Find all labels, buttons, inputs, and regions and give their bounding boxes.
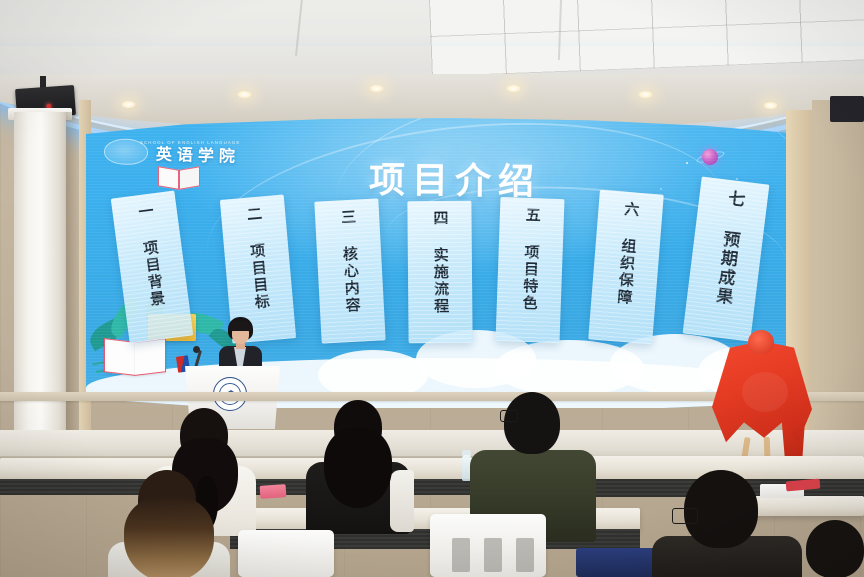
agenda-card-label: 六 组织保障	[615, 201, 639, 307]
agenda-card-label: 二 项目目标	[245, 206, 270, 312]
audience-person-6	[806, 520, 864, 577]
agenda-card-5[interactable]: 五 项目特色	[496, 197, 565, 343]
agenda-card-3[interactable]: 三 核心内容	[314, 198, 385, 343]
agenda-cards: 一 项目背景 二 项目目标 三 核心内容 四 实施流程 五 项目特色 六 组织保…	[86, 118, 786, 408]
led-screen-surface: 英语学院 SCHOOL OF ENGLISH LANGUAGE 项目介绍	[86, 118, 786, 408]
audience-person-5	[652, 470, 802, 577]
person-head	[806, 520, 864, 577]
chair	[238, 530, 334, 577]
glasses-icon	[500, 410, 518, 422]
spotlight	[637, 90, 654, 99]
cloth-highlight	[742, 372, 788, 412]
agenda-card-label: 四 实施流程	[432, 210, 449, 315]
spotlight	[236, 90, 253, 99]
agenda-card-7[interactable]: 七 预期成果	[683, 176, 770, 341]
person-hair	[324, 428, 392, 508]
spotlight	[762, 101, 779, 110]
agenda-card-label: 三 核心内容	[339, 209, 360, 315]
person-head	[504, 392, 560, 454]
chair-backrest-slot	[516, 538, 534, 572]
screenshot-root: 英语学院 SCHOOL OF ENGLISH LANGUAGE 项目介绍	[0, 0, 864, 577]
laptop	[576, 548, 662, 577]
microphone-head	[193, 346, 200, 353]
agenda-card-4[interactable]: 四 实施流程	[407, 201, 472, 344]
spotlight	[368, 84, 385, 93]
agenda-card-label: 七 预期成果	[711, 188, 743, 306]
agenda-card-1[interactable]: 一 项目背景	[111, 190, 194, 343]
agenda-card-label: 一 项目背景	[136, 203, 165, 309]
agenda-card-6[interactable]: 六 组织保障	[588, 190, 664, 345]
glasses-icon	[672, 508, 698, 524]
audience-person-3	[306, 398, 410, 534]
red-cloth-knot	[748, 330, 774, 354]
presenter-hair-fringe	[229, 321, 252, 331]
spotlight	[505, 84, 522, 93]
spotlight	[120, 100, 137, 109]
person-sleeve	[390, 470, 414, 532]
agenda-card-label: 五 项目特色	[521, 207, 540, 312]
chair-backrest-slot	[484, 538, 502, 572]
led-screen[interactable]: 英语学院 SCHOOL OF ENGLISH LANGUAGE 项目介绍	[86, 118, 786, 408]
chair-backrest-slot	[452, 538, 470, 572]
wall-speaker-box-right	[830, 96, 864, 122]
person-hair	[124, 496, 214, 577]
audience-person-2	[108, 470, 230, 577]
pink-notebook	[260, 484, 287, 499]
